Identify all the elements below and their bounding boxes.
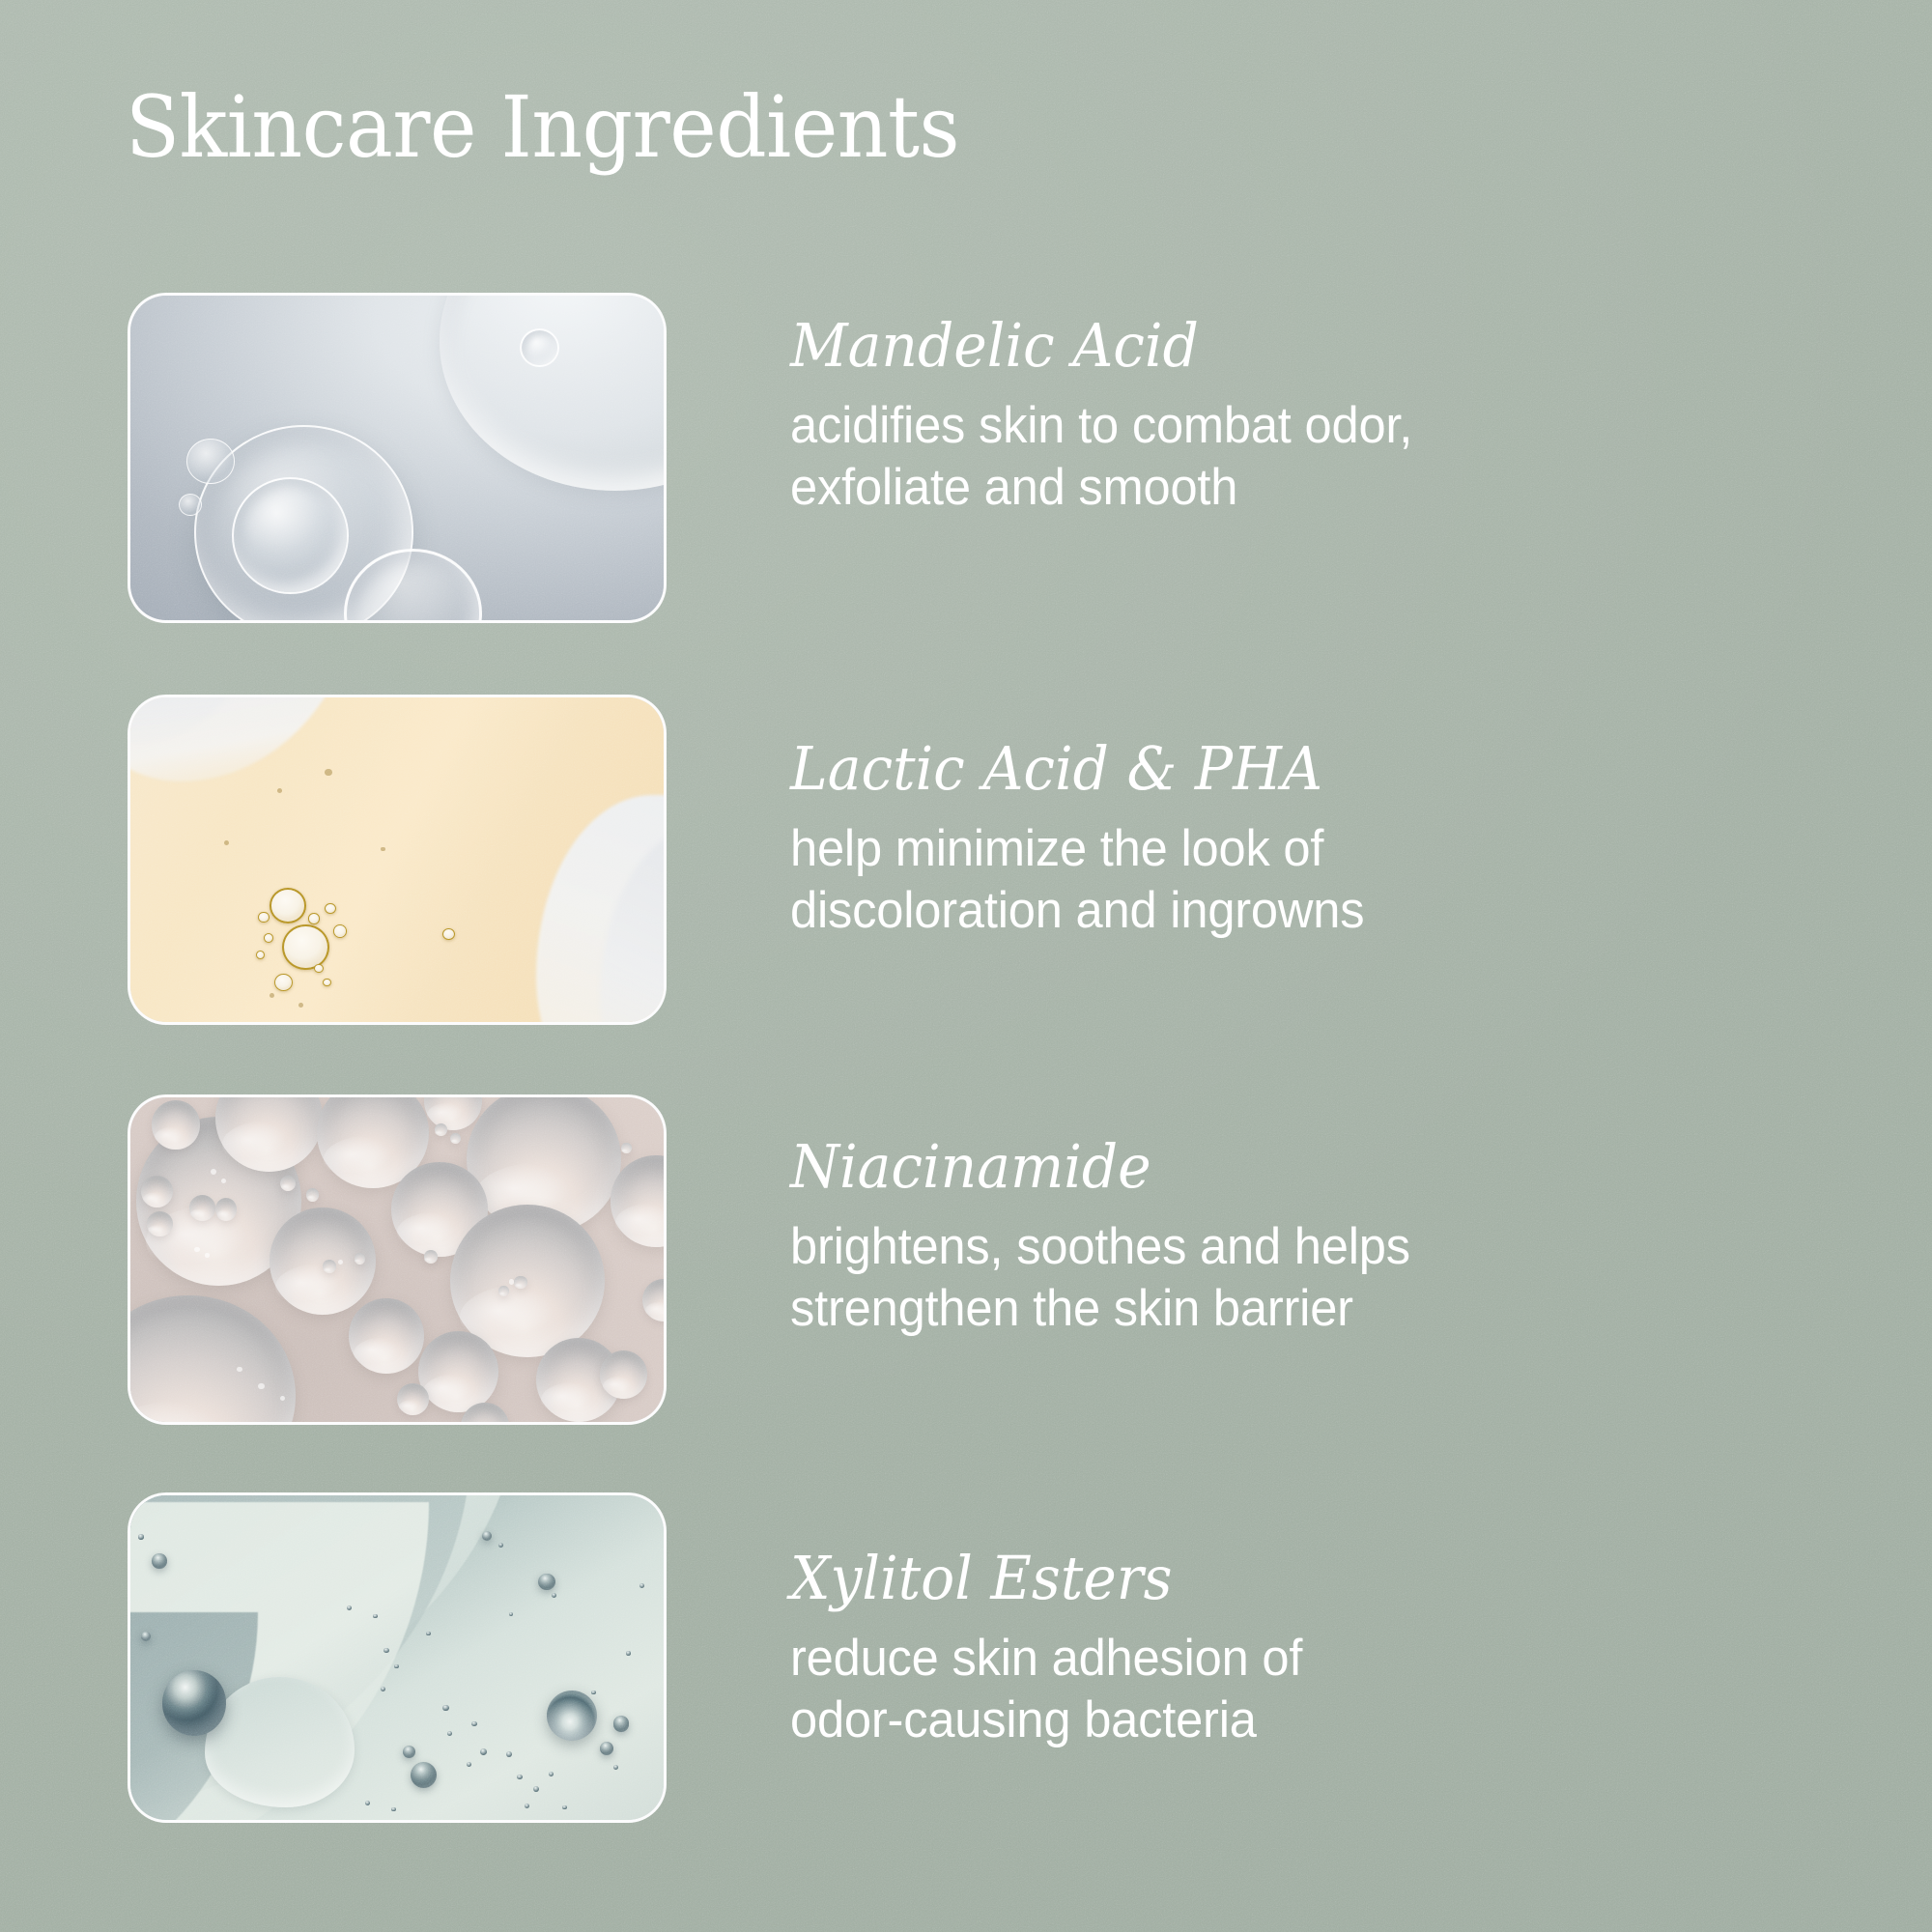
ingredient-name: Lactic Acid & PHA <box>790 739 1752 799</box>
description-line: reduce skin adhesion of <box>790 1628 1768 1690</box>
ingredient-description: reduce skin adhesion of odor-causing bac… <box>790 1628 1768 1751</box>
ingredient-description: help minimize the look of discoloration … <box>790 818 1768 942</box>
description-line: acidifies skin to combat odor, <box>790 395 1768 457</box>
ingredient-row-lactic-acid-pha: Lactic Acid & PHA help minimize the look… <box>0 695 1932 1027</box>
ingredient-description: acidifies skin to combat odor, exfoliate… <box>790 395 1768 519</box>
description-line: exfoliate and smooth <box>790 457 1768 519</box>
ingredient-text-lactic-acid-pha: Lactic Acid & PHA help minimize the look… <box>790 739 1814 942</box>
ingredient-name: Niacinamide <box>790 1137 1752 1197</box>
page-background: Skincare Ingredients Mandelic Acid acidi… <box>0 0 1932 1932</box>
ingredient-name: Xylitol Esters <box>790 1548 1752 1608</box>
page-title: Skincare Ingredients <box>126 85 959 170</box>
ingredient-image-mandelic-acid[interactable] <box>128 293 667 623</box>
ingredient-description: brightens, soothes and helps strengthen … <box>790 1216 1768 1340</box>
ingredient-text-niacinamide: Niacinamide brightens, soothes and helps… <box>790 1137 1814 1340</box>
ingredient-image-lactic-acid-pha[interactable] <box>128 695 667 1025</box>
description-line: discoloration and ingrowns <box>790 880 1768 942</box>
description-line: brightens, soothes and helps <box>790 1216 1768 1278</box>
ingredient-row-mandelic-acid: Mandelic Acid acidifies skin to combat o… <box>0 293 1932 625</box>
ingredient-text-mandelic-acid: Mandelic Acid acidifies skin to combat o… <box>790 316 1814 519</box>
ingredient-image-niacinamide[interactable] <box>128 1094 667 1425</box>
description-line: odor-causing bacteria <box>790 1690 1768 1751</box>
ingredient-text-xylitol-esters: Xylitol Esters reduce skin adhesion of o… <box>790 1548 1814 1751</box>
ingredient-row-xylitol-esters: Xylitol Esters reduce skin adhesion of o… <box>0 1492 1932 1825</box>
ingredient-image-xylitol-esters[interactable] <box>128 1492 667 1823</box>
description-line: strengthen the skin barrier <box>790 1278 1768 1340</box>
description-line: help minimize the look of <box>790 818 1768 880</box>
ingredient-name: Mandelic Acid <box>790 316 1752 376</box>
ingredient-row-niacinamide: Niacinamide brightens, soothes and helps… <box>0 1094 1932 1427</box>
